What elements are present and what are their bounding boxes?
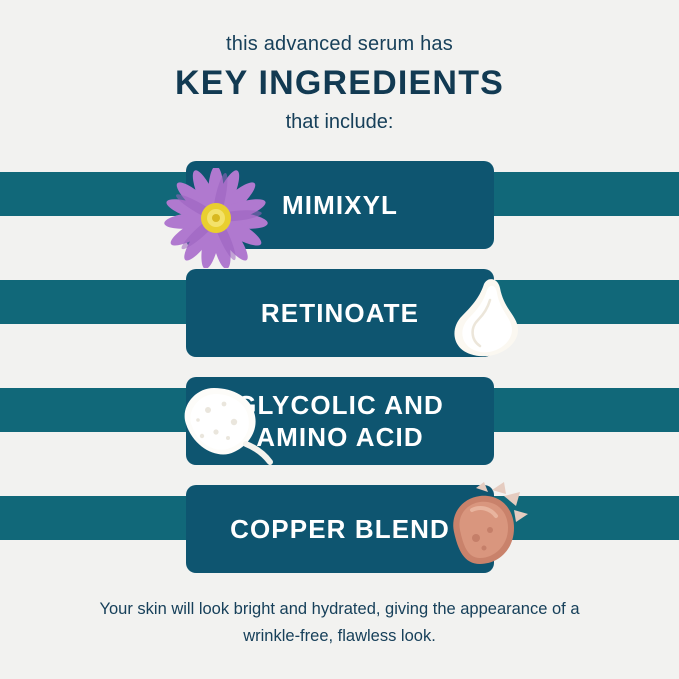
page-title: KEY INGREDIENTS (0, 60, 679, 106)
ingredient-card-glycolic-amino-acid: GLYCOLIC AND AMINO ACID (186, 377, 494, 465)
heading-line-3: that include: (0, 108, 679, 136)
ingredient-label: GLYCOLIC AND AMINO ACID (236, 389, 444, 453)
ingredient-card-copper-blend: COPPER BLEND (186, 485, 494, 573)
ingredient-label: RETINOATE (261, 297, 419, 329)
footer-text: Your skin will look bright and hydrated,… (60, 596, 619, 650)
infographic-page: this advanced serum has KEY INGREDIENTS … (0, 0, 679, 679)
ingredient-label: COPPER BLEND (230, 513, 450, 545)
heading-line-1: this advanced serum has (0, 30, 679, 58)
footer-line-2: wrinkle-free, flawless look. (60, 623, 619, 650)
ingredient-label: MIMIXYL (282, 189, 398, 221)
ingredient-label-line-1: GLYCOLIC AND (236, 390, 444, 420)
heading-block: this advanced serum has KEY INGREDIENTS … (0, 30, 679, 136)
footer-line-1: Your skin will look bright and hydrated,… (60, 596, 619, 623)
ingredient-card-mimixyl: MIMIXYL (186, 161, 494, 249)
ingredient-card-retinoate: RETINOATE (186, 269, 494, 357)
ingredient-label-line-2: AMINO ACID (256, 422, 423, 452)
